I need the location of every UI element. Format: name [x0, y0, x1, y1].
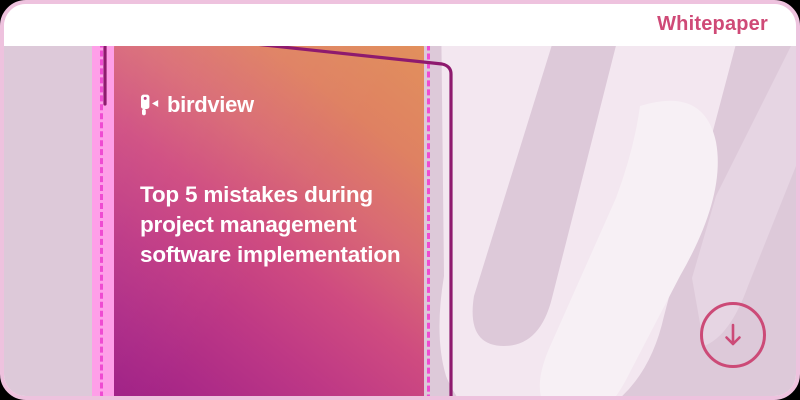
dashed-guide-outline	[100, 18, 430, 400]
category-label: Whitepaper	[657, 13, 768, 36]
arrow-down-circle-icon	[717, 319, 749, 351]
download-button[interactable]	[700, 302, 766, 368]
whitepaper-banner: birdview Top 5 mistakes during project m…	[0, 0, 800, 400]
